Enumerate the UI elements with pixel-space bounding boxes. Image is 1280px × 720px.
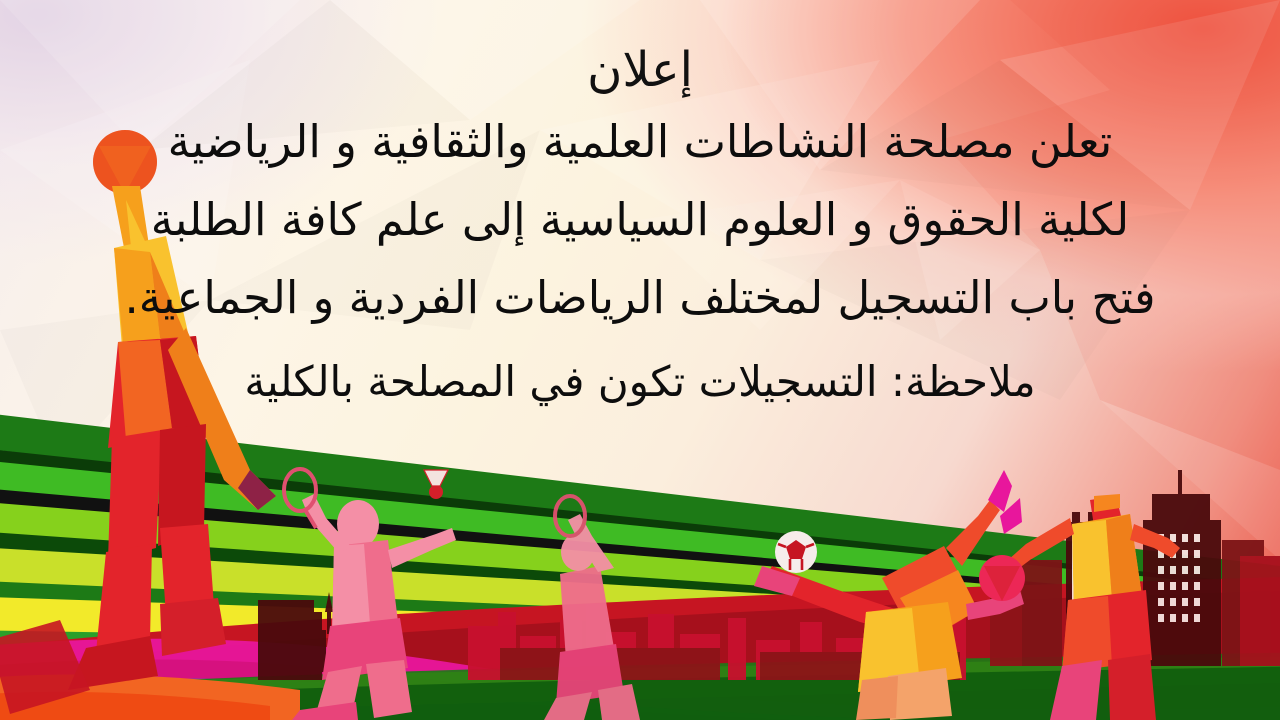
announcement-note-line: ملاحظة: التسجيلات تكون في المصلحة بالكلي… bbox=[0, 353, 1280, 411]
announcement-line-1: تعلن مصلحة النشاطات العلمية والثقافية و … bbox=[0, 111, 1280, 173]
announcement-line-2: لكلية الحقوق و العلوم السياسية إلى علم ك… bbox=[0, 189, 1280, 251]
announcement-line-3: فتح باب التسجيل لمختلف الرياضات الفردية … bbox=[0, 267, 1280, 329]
announcement-poster: إعلان تعلن مصلحة النشاطات العلمية والثقا… bbox=[0, 0, 1280, 720]
announcement-text-block: إعلان تعلن مصلحة النشاطات العلمية والثقا… bbox=[0, 0, 1280, 720]
poster-title: إعلان bbox=[587, 44, 693, 97]
